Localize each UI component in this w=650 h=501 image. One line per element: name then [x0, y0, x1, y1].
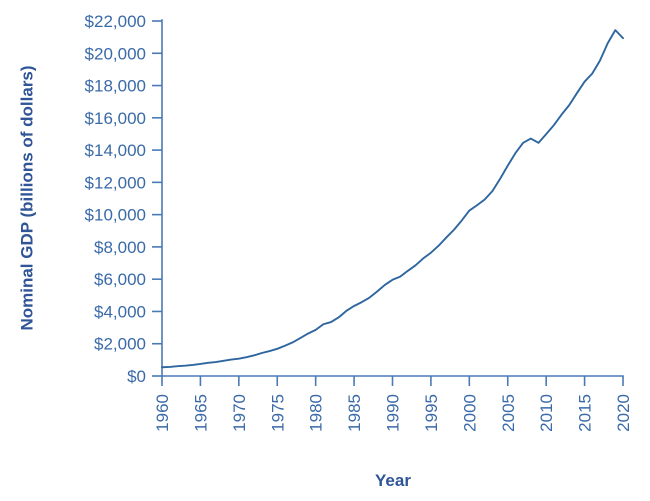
x-tick-label: 2000: [460, 394, 479, 432]
y-tick-label: $4,000: [94, 302, 146, 321]
x-tick-label: 1965: [191, 394, 210, 432]
x-tick-label: 1995: [422, 394, 441, 432]
y-tick-label: $6,000: [94, 270, 146, 289]
x-tick-label: 1960: [153, 394, 172, 432]
x-tick-label: 2015: [576, 394, 595, 432]
x-tick-label: 1980: [307, 394, 326, 432]
y-tick-label: $10,000: [85, 206, 146, 225]
y-tick-label: $18,000: [85, 77, 146, 96]
y-tick-label: $16,000: [85, 109, 146, 128]
y-tick-label: $12,000: [85, 173, 146, 192]
y-tick-label: $0: [127, 367, 146, 386]
x-tick-label: 2010: [537, 394, 556, 432]
x-tick-label: 1985: [345, 394, 364, 432]
y-tick-label: $14,000: [85, 141, 146, 160]
y-tick-label: $20,000: [85, 44, 146, 63]
y-tick-label: $2,000: [94, 335, 146, 354]
chart-canvas: $0$2,000$4,000$6,000$8,000$10,000$12,000…: [0, 0, 650, 501]
x-tick-label: 1970: [230, 394, 249, 432]
x-tick-label: 1990: [384, 394, 403, 432]
gdp-line-chart: $0$2,000$4,000$6,000$8,000$10,000$12,000…: [0, 0, 650, 501]
x-tick-label: 1975: [268, 394, 287, 432]
y-tick-label: $22,000: [85, 12, 146, 31]
y-tick-label: $8,000: [94, 238, 146, 257]
x-tick-label: 2005: [499, 394, 518, 432]
x-axis-title: Year: [375, 471, 411, 490]
x-tick-label: 2020: [614, 394, 633, 432]
y-axis-title: Nominal GDP (billions of dollars): [17, 65, 36, 330]
